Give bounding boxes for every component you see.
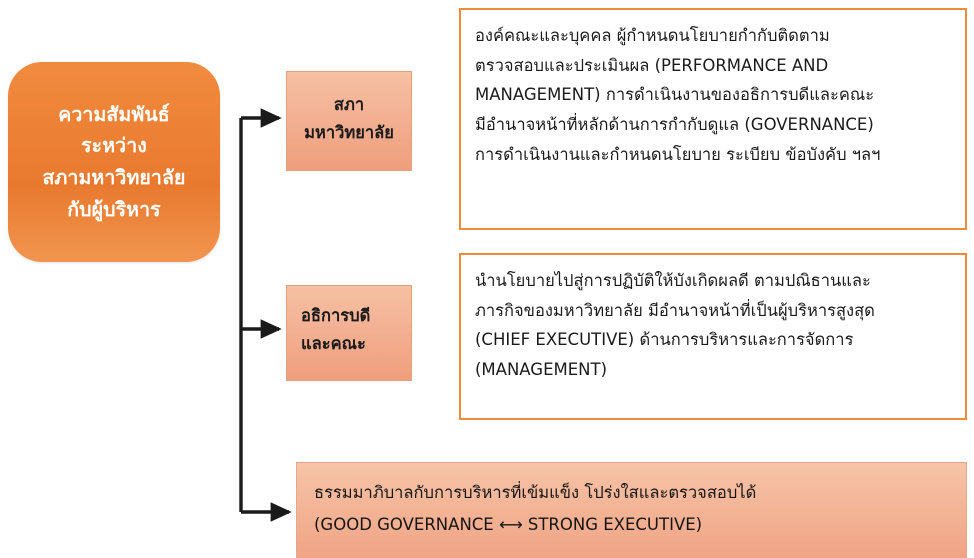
diagram-canvas: ความสัมพันธ์ ระหว่าง สภามหาวิทยาลัย กับผ… [0, 0, 974, 558]
branch-description-box-1: องค์คณะและบุคคล ผู้กำหนดนโยบายกำกับติดตา… [459, 8, 967, 230]
root-node: ความสัมพันธ์ ระหว่าง สภามหาวิทยาลัย กับผ… [8, 62, 220, 262]
branch-description-box-2: นำนโยบายไปสู่การปฏิบัติให้บังเกิดผลดี ตา… [459, 253, 967, 420]
branch-description-2-text: นำนโยบายไปสู่การปฏิบัติให้บังเกิดผลดี ตา… [461, 255, 965, 385]
bottom-summary-banner: ธรรมมาภิบาลกับการบริหารที่เข้มแข็ง โปร่ง… [296, 462, 967, 558]
branch-label-1-text: สภา มหาวิทยาลัย [287, 91, 411, 148]
branch-description-1-text: องค์คณะและบุคคล ผู้กำหนดนโยบายกำกับติดตา… [461, 10, 965, 169]
branch-label-box-1: สภา มหาวิทยาลัย [286, 71, 412, 171]
bottom-summary-text: ธรรมมาภิบาลกับการบริหารที่เข้มแข็ง โปร่ง… [297, 463, 966, 541]
root-node-label: ความสัมพันธ์ ระหว่าง สภามหาวิทยาลัย กับผ… [36, 99, 191, 225]
branch-label-2-text: อธิการบดี และคณะ [287, 302, 411, 359]
branch-label-box-2: อธิการบดี และคณะ [286, 285, 412, 381]
